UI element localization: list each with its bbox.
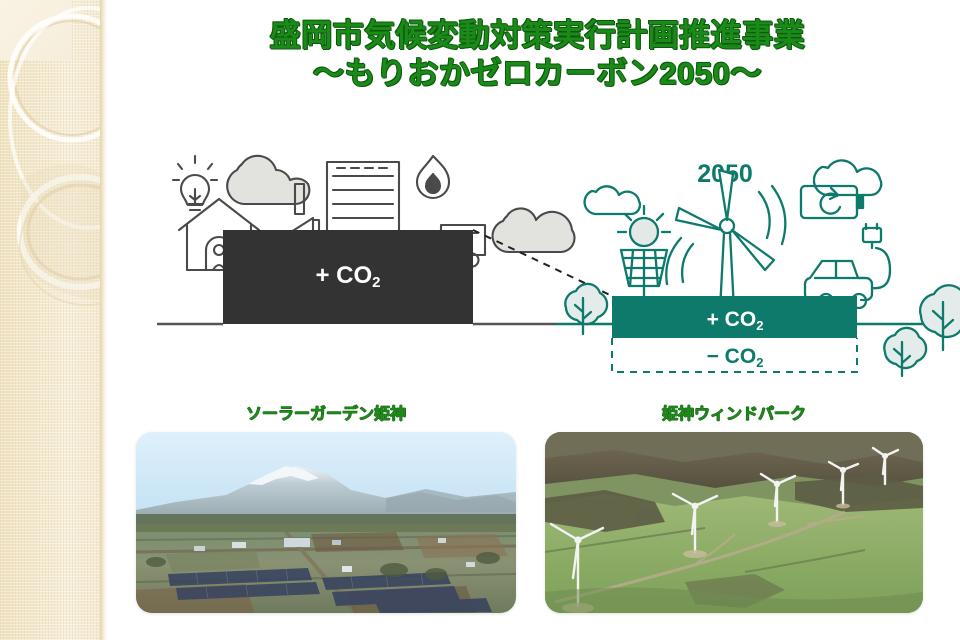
photo-caption-solar: ソーラーガーデン姫神 bbox=[136, 400, 516, 424]
cloud-icon bbox=[227, 156, 309, 204]
emission-2050-main: + CO bbox=[707, 308, 757, 331]
cloud-icon bbox=[585, 186, 640, 214]
tree-icon bbox=[920, 285, 960, 350]
title-line-1: 盛岡市気候変動対策実行計画推進事業 bbox=[115, 18, 960, 54]
lightbulb-icon bbox=[173, 156, 217, 210]
co2-infographic: + CO2 2050 bbox=[115, 120, 960, 390]
offset-label-main: − CO bbox=[707, 345, 757, 368]
emission-block-label: + CO2 bbox=[315, 262, 380, 291]
tree-icon bbox=[565, 284, 607, 334]
flame-icon bbox=[417, 156, 449, 198]
photo-caption-wind: 姫神ウィンドパーク bbox=[545, 400, 923, 424]
offset-label: − CO2 bbox=[707, 345, 764, 370]
decorative-side-band bbox=[0, 0, 115, 640]
cloud-icon bbox=[814, 160, 881, 195]
solar-panel-icon bbox=[618, 206, 670, 310]
photo-solar-garden-image bbox=[136, 432, 516, 613]
slide-root: 盛岡市気候変動対策実行計画推進事業 ～もりおかゼロカーボン2050～ bbox=[0, 0, 960, 640]
electric-car-icon bbox=[805, 224, 890, 308]
title-line-2: ～もりおかゼロカーボン2050～ bbox=[115, 56, 960, 92]
tree-icon bbox=[884, 328, 926, 376]
renewable-icon-group bbox=[565, 160, 960, 376]
wind-turbine-icon bbox=[666, 170, 785, 310]
slide-title: 盛岡市気候変動対策実行計画推進事業 ～もりおかゼロカーボン2050～ bbox=[115, 18, 960, 92]
battery-recycle-icon bbox=[801, 186, 863, 218]
emission-label-sub: 2 bbox=[372, 274, 380, 291]
cloud-icon bbox=[493, 208, 575, 252]
offset-label-sub: 2 bbox=[756, 355, 763, 370]
photo-wind-park-image bbox=[545, 432, 923, 613]
band-rings-graphic bbox=[0, 0, 115, 640]
photo-solar-garden bbox=[136, 432, 516, 613]
emission-2050-sub: 2 bbox=[756, 318, 763, 333]
emission-label-main: + CO bbox=[315, 262, 372, 289]
photo-wind-park bbox=[545, 432, 923, 613]
emission-2050-label: + CO2 bbox=[707, 308, 764, 333]
co2-infographic-svg: + CO2 2050 bbox=[115, 120, 960, 390]
band-edge-gradient bbox=[100, 0, 107, 640]
